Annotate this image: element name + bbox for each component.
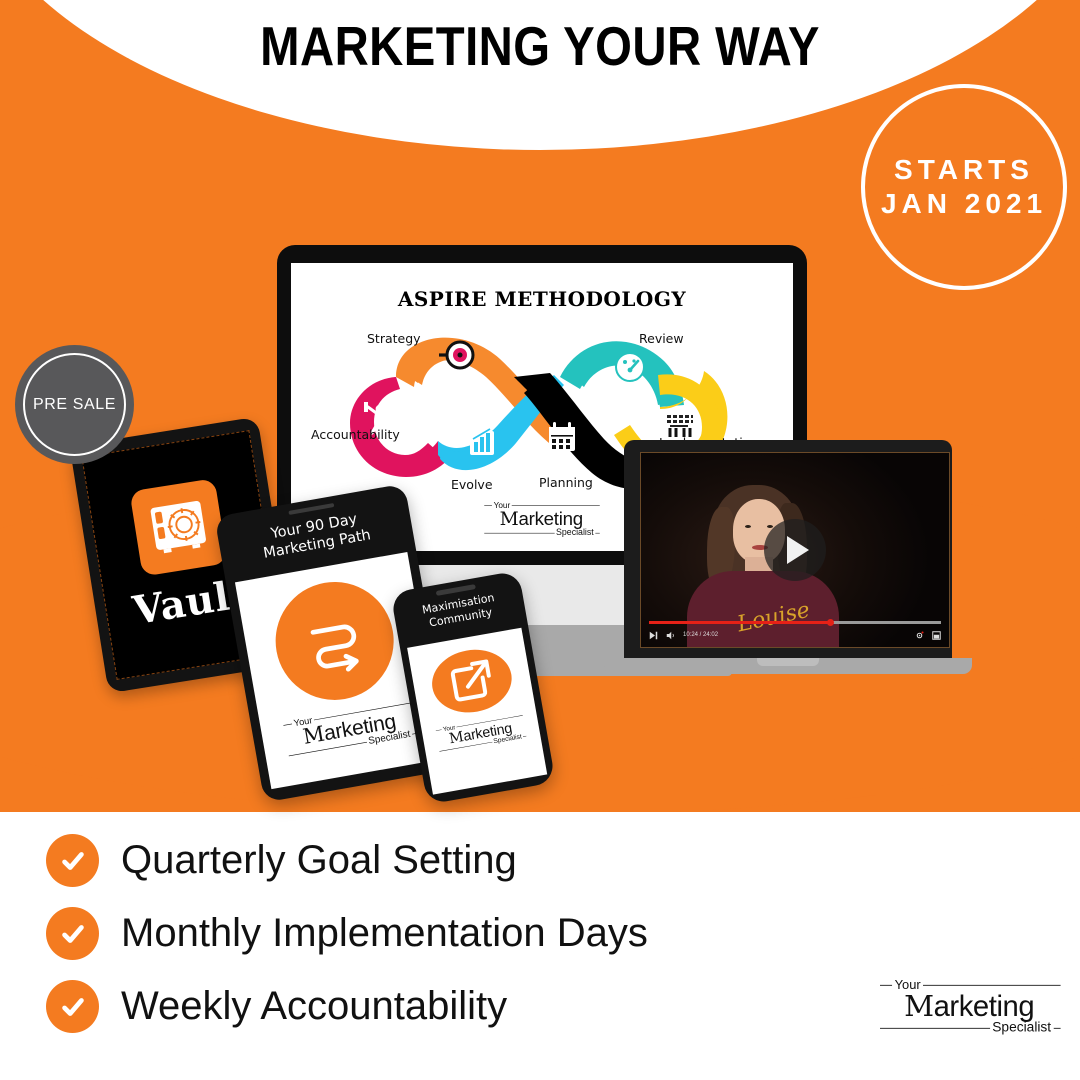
- list-item-label: Monthly Implementation Days: [121, 911, 648, 956]
- presenter-eye-left: [745, 525, 751, 528]
- video-progress-handle[interactable]: [827, 619, 834, 626]
- check-icon: [46, 907, 99, 960]
- footer-logo-m: M: [904, 989, 934, 1023]
- video-controls[interactable]: 10:24 / 24:02: [649, 627, 941, 643]
- promo-graphic: MARKETING YOUR WAY STARTS JAN 2021 PRE S…: [0, 0, 1080, 1080]
- play-icon[interactable]: [764, 519, 826, 581]
- phone-logo: Your Marketing Specialist: [435, 712, 527, 755]
- path-logo: Your Marketing Specialist: [282, 698, 417, 761]
- starts-badge-line2: JAN 2021: [881, 187, 1047, 221]
- tablet-camera-bar: [288, 503, 334, 515]
- laptop-lid: Louise 10:24 / 24:02: [624, 440, 952, 660]
- volume-icon[interactable]: [666, 631, 675, 640]
- footer-logo-specialist: pecialist: [1001, 1020, 1051, 1035]
- laptop-trackpad-notch: [757, 658, 819, 666]
- bar-chart-icon: [470, 429, 494, 455]
- video-player[interactable]: Louise 10:24 / 24:02: [640, 452, 950, 648]
- page-title: MARKETING YOUR WAY: [76, 14, 1005, 78]
- path-arrow-icon: [266, 573, 403, 710]
- pre-sale-label: PRE SALE: [33, 396, 116, 414]
- footer-logo-s: S: [992, 1020, 1001, 1035]
- slide-title: ASPIRE METHODOLOGY: [291, 287, 793, 311]
- video-progress-fill: [649, 621, 830, 624]
- label-review: Review: [639, 331, 684, 346]
- gauge-icon: [616, 353, 644, 381]
- feature-checklist: Quarterly Goal Setting Monthly Implement…: [46, 824, 746, 1043]
- starts-badge-line1: STARTS: [894, 153, 1034, 187]
- list-item-label: Quarterly Goal Setting: [121, 838, 517, 883]
- footer-logo: Your Marketing Specialist: [880, 978, 1061, 1035]
- footer-logo-marketing: arketing: [934, 990, 1035, 1023]
- external-link-icon: [427, 644, 517, 719]
- check-icon: [46, 980, 99, 1033]
- list-item-label: Weekly Accountability: [121, 984, 507, 1029]
- pre-sale-badge: PRE SALE: [15, 345, 134, 464]
- phone-screen: Your Marketing Specialist: [407, 628, 547, 795]
- safe-icon: [129, 478, 227, 576]
- list-item: Monthly Implementation Days: [46, 897, 746, 970]
- list-item: Quarterly Goal Setting: [46, 824, 746, 897]
- video-time: 10:24 / 24:02: [683, 632, 718, 638]
- video-progress-bar[interactable]: [649, 621, 941, 624]
- slide-logo: Your Marketing Specialist: [484, 501, 600, 537]
- logo-m: M: [500, 508, 519, 530]
- logo-specialist: pecialist: [562, 528, 594, 537]
- list-item: Weekly Accountability: [46, 970, 746, 1043]
- video-laptop: Louise 10:24 / 24:02: [618, 440, 958, 680]
- starts-date-badge: STARTS JAN 2021: [861, 84, 1067, 290]
- settings-gear-icon[interactable]: [915, 631, 924, 640]
- label-strategy: Strategy: [367, 331, 421, 346]
- check-icon: [46, 834, 99, 887]
- fullscreen-icon[interactable]: [932, 631, 941, 640]
- label-planning: Planning: [539, 475, 593, 490]
- play-next-icon[interactable]: [649, 631, 658, 640]
- keyboard-icon: [664, 412, 696, 437]
- logo-marketing: arketing: [519, 509, 583, 530]
- label-evolve: Evolve: [451, 477, 493, 492]
- label-accountability: Accountability: [311, 427, 400, 442]
